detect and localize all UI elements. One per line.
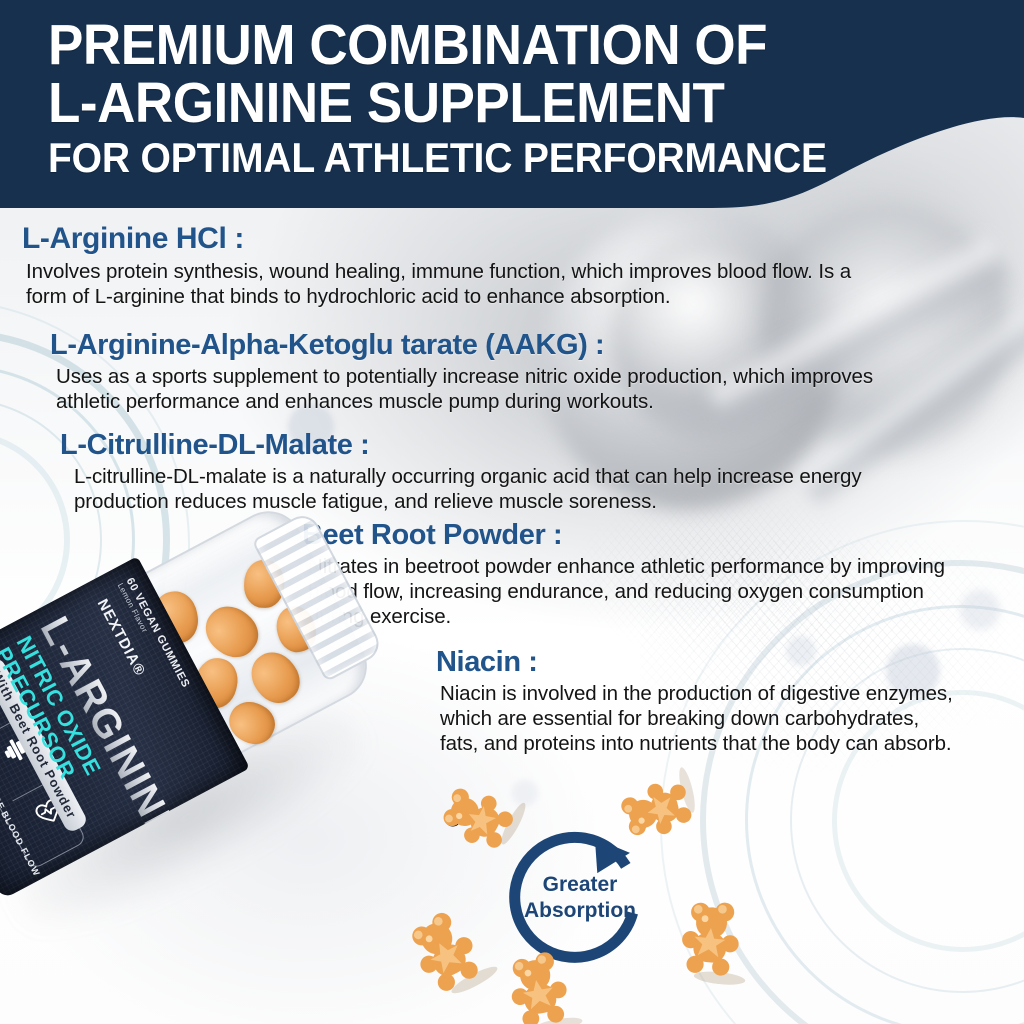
absorption-label: Greater Absorption [495,872,665,924]
gummy-bear [668,893,772,989]
header-banner: PREMIUM COMBINATION OF L-ARGININE SUPPLE… [0,0,1024,212]
section-body: Nitrates in beetroot powder enhance athl… [308,554,1022,629]
ingredient-section-aakg: L-Arginine-Alpha-Ketoglu tarate (AAKG) :… [50,328,1010,414]
section-body: Involves protein synthesis, wound healin… [26,259,902,309]
section-body: Niacin is involved in the production of … [440,681,1024,756]
ingredient-section-l-arginine-hcl: L-Arginine HCl : Involves protein synthe… [22,222,902,309]
ingredient-section-l-citrulline-dl-malate: L-Citrulline-DL-Malate : L-citrulline-DL… [60,428,1010,514]
section-heading: Niacin : [436,645,1024,679]
header-title-line-1: PREMIUM COMBINATION OF [48,16,918,74]
section-body: Uses as a sports supplement to potential… [56,364,1010,414]
ingredient-section-niacin: Niacin : Niacin is involved in the produ… [436,645,1024,756]
infographic-page: PREMIUM COMBINATION OF L-ARGININE SUPPLE… [0,0,1024,1024]
section-heading: L-Arginine HCl : [22,222,902,256]
section-heading: L-Arginine-Alpha-Ketoglu tarate (AAKG) : [50,328,1010,362]
section-heading: L-Citrulline-DL-Malate : [60,428,1010,462]
header-subtitle: FOR OPTIMAL ATHLETIC PERFORMANCE [48,132,918,184]
section-heading: Beet Root Powder : [302,518,1022,552]
ingredient-section-beet-root-powder: Beet Root Powder : Nitrates in beetroot … [302,518,1022,629]
header-title-line-2: L-ARGININE SUPPLEMENT [48,74,918,132]
